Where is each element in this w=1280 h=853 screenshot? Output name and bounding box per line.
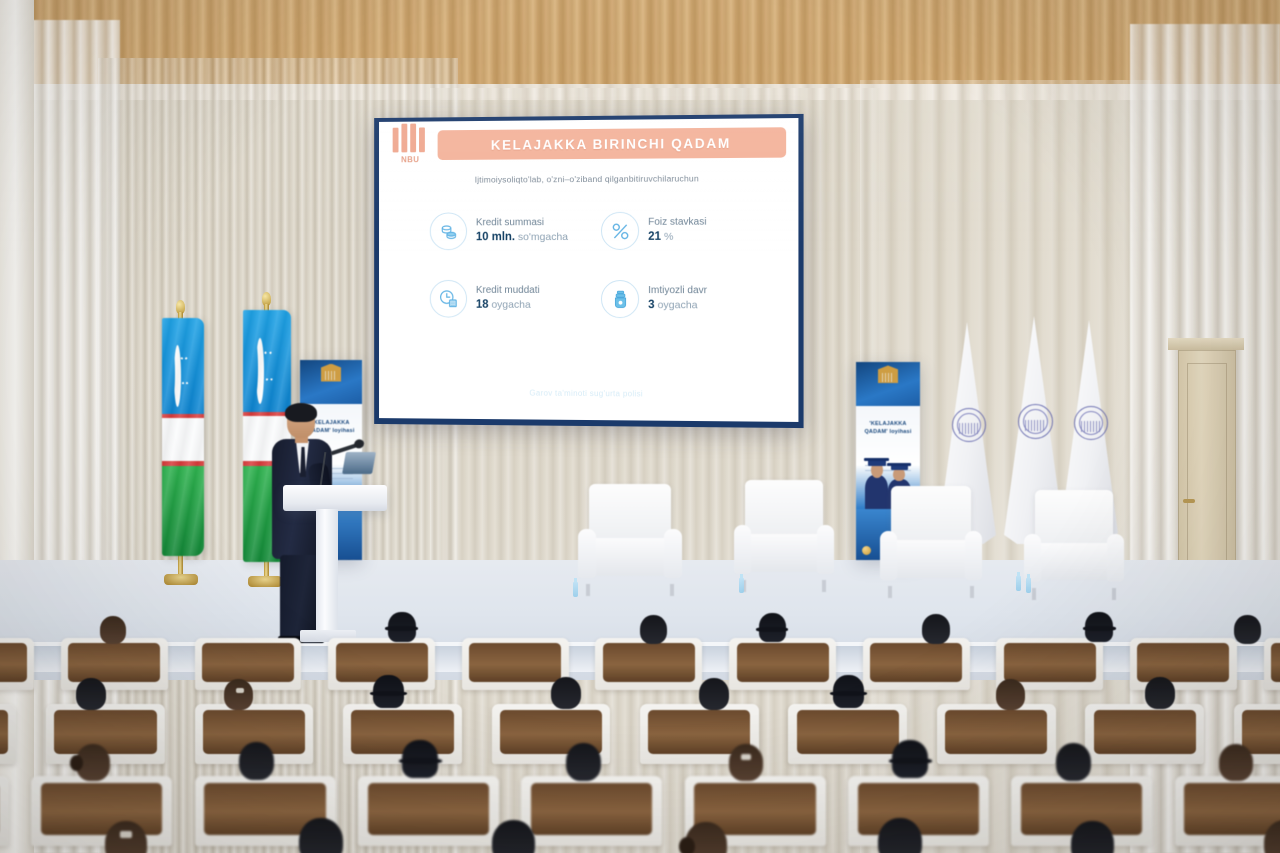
slide-header: NBU KELAJAKKA BIRINCHI QADAM xyxy=(379,118,798,169)
fact-text: Foiz stavkasi 21 % xyxy=(648,217,706,245)
audience-head xyxy=(373,675,404,708)
audience-head xyxy=(640,615,667,644)
rollup-header xyxy=(856,362,920,406)
audience-head xyxy=(76,678,106,710)
audience-head xyxy=(299,818,343,853)
audience-head xyxy=(685,822,727,853)
fact-value: 21 % xyxy=(648,230,706,245)
nbu-logo-text: NBU xyxy=(391,155,430,164)
audience-head xyxy=(1085,612,1113,642)
podium-laptop xyxy=(342,452,376,474)
nbu-logo-icon: NBU xyxy=(389,125,432,165)
audience-head xyxy=(492,820,535,853)
fact-text: Imtiyozli davr 3 oygacha xyxy=(648,285,707,313)
audience-head xyxy=(1219,744,1253,781)
rollup-header xyxy=(300,360,362,404)
rollup-badge-icon xyxy=(862,546,871,555)
water-bottle xyxy=(1016,576,1021,591)
fact-label: Kredit summasi xyxy=(476,217,568,230)
audience-head xyxy=(402,740,438,778)
audience-head xyxy=(922,614,950,644)
audience-head xyxy=(239,742,274,780)
fact-text: Kredit muddati 18 oygacha xyxy=(476,285,540,312)
slide-subtitle: Ijtimoiysoliqto'lab, o'zni–o'ziband qilg… xyxy=(379,173,798,185)
door-handle-icon xyxy=(1183,499,1195,503)
fact-label: Kredit muddati xyxy=(476,285,540,298)
audience-head xyxy=(1071,821,1114,853)
rollup-title: 'KELAJAKKA QADAM' loyihasi xyxy=(859,421,918,437)
slide-footer-note: Garov ta'minoti sug'urta polisi xyxy=(379,387,798,399)
slide-facts-grid: Kredit summasi 10 mln. so'mgacha Foiz st… xyxy=(430,211,770,318)
stage-armchair xyxy=(734,480,834,592)
uzbekistan-flag xyxy=(162,318,204,556)
audience-head xyxy=(1145,677,1175,709)
clock-calendar-icon xyxy=(430,280,467,318)
audience-area xyxy=(0,590,1280,853)
fact-value: 3 oygacha xyxy=(648,298,707,313)
audience-head xyxy=(833,675,864,708)
audience-head xyxy=(388,612,416,642)
audience-head xyxy=(100,616,126,644)
coins-icon xyxy=(430,212,467,250)
flag-stand-base xyxy=(164,574,198,585)
audience-head xyxy=(699,678,729,710)
presentation-screen: NBU KELAJAKKA BIRINCHI QADAM Ijtimoiysol… xyxy=(374,114,803,428)
fact-item: Imtiyozli davr 3 oygacha xyxy=(601,280,770,319)
audience-head xyxy=(224,679,253,710)
audience-head xyxy=(1056,743,1091,781)
audience-head xyxy=(759,613,786,642)
fact-label: Foiz stavkasi xyxy=(648,217,706,230)
slide-title-banner: KELAJAKKA BIRINCHI QADAM xyxy=(438,127,787,160)
podium-top xyxy=(283,485,387,511)
fact-item: Foiz stavkasi 21 % xyxy=(601,211,770,250)
insurance-icon xyxy=(601,280,639,318)
door-lintel xyxy=(1168,338,1244,350)
audience-head xyxy=(892,740,928,778)
fact-label: Imtiyozli davr xyxy=(648,285,707,298)
audience-head xyxy=(566,743,601,781)
stage-armchair xyxy=(578,484,682,596)
audience-head xyxy=(76,744,110,781)
university-crest-icon xyxy=(321,364,341,382)
fact-value: 10 mln. so'mgacha xyxy=(476,230,568,245)
fact-item: Kredit summasi 10 mln. so'mgacha xyxy=(430,212,595,250)
stage-armchair xyxy=(880,486,982,598)
fact-value: 18 oygacha xyxy=(476,298,540,313)
fact-text: Kredit summasi 10 mln. so'mgacha xyxy=(476,217,568,245)
fact-item: Kredit muddati 18 oygacha xyxy=(430,280,595,318)
university-crest-icon xyxy=(878,365,898,383)
stage-armchair xyxy=(1024,490,1124,600)
conference-hall-photo: NBU KELAJAKKA BIRINCHI QADAM Ijtimoiysol… xyxy=(0,0,1280,853)
slide-title: KELAJAKKA BIRINCHI QADAM xyxy=(491,135,731,152)
audience-head xyxy=(878,818,922,853)
audience-head xyxy=(729,744,763,781)
audience-head xyxy=(996,679,1025,710)
audience-head xyxy=(1234,615,1261,644)
percent-icon xyxy=(601,212,639,250)
audience-head xyxy=(551,677,581,709)
slide-content: NBU KELAJAKKA BIRINCHI QADAM Ijtimoiysol… xyxy=(379,118,798,422)
